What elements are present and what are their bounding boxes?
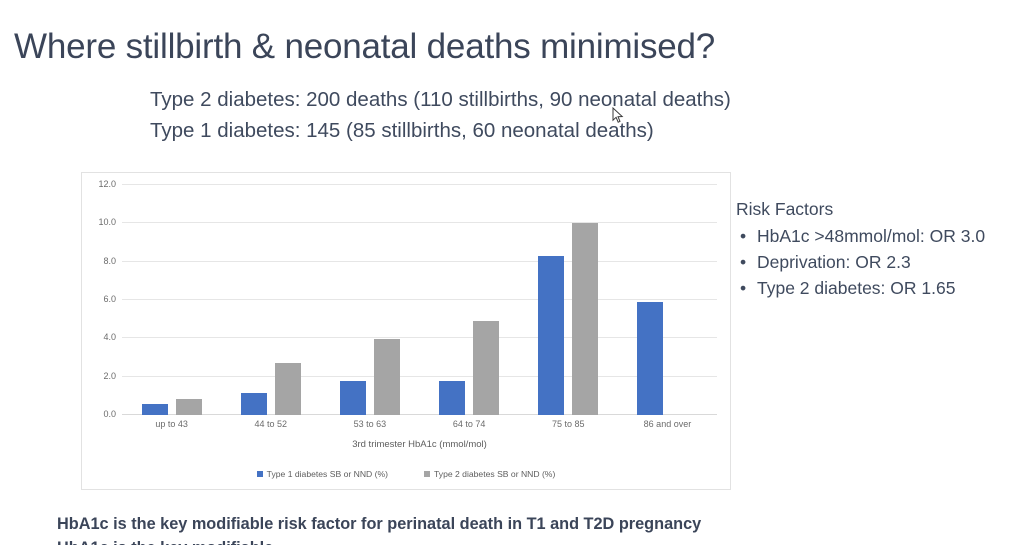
bar[interactable] [241,393,267,415]
risk-factor-item: •Deprivation: OR 2.3 [736,249,1022,275]
bar-group [221,185,320,415]
x-axis-tick-label: up to 43 [122,419,221,429]
legend-item[interactable]: Type 2 diabetes SB or NND (%) [424,469,555,479]
bar[interactable] [340,381,366,415]
bar[interactable] [637,302,663,415]
page-title: Where stillbirth & neonatal deaths minim… [14,27,715,67]
y-axis-tick-label: 0.0 [103,409,116,419]
bar-chart[interactable]: 0.02.04.06.08.010.012.0 up to 4344 to 52… [81,172,731,490]
y-axis-tick-label: 6.0 [103,294,116,304]
chart-legend[interactable]: Type 1 diabetes SB or NND (%)Type 2 diab… [82,469,730,479]
risk-factor-label: HbA1c >48mmol/mol: OR 3.0 [757,226,985,246]
bar[interactable] [374,339,400,415]
risk-factor-label: Type 2 diabetes: OR 1.65 [757,278,955,298]
chart-x-axis-labels: up to 4344 to 5253 to 6364 to 7475 to 85… [122,419,717,429]
x-axis-tick-label: 64 to 74 [420,419,519,429]
bar[interactable] [142,404,168,415]
bullet-icon: • [740,275,746,301]
legend-label: Type 2 diabetes SB or NND (%) [434,469,555,479]
bar-group [420,185,519,415]
legend-item[interactable]: Type 1 diabetes SB or NND (%) [257,469,388,479]
risk-factor-item: •HbA1c >48mmol/mol: OR 3.0 [736,223,1022,249]
bullet-icon: • [740,249,746,275]
risk-factor-label: Deprivation: OR 2.3 [757,252,911,272]
chart-bars-layer [122,185,717,415]
summary-line-type1: Type 1 diabetes: 145 (85 stillbirths, 60… [150,115,731,146]
legend-color-swatch [257,471,263,477]
legend-label: Type 1 diabetes SB or NND (%) [267,469,388,479]
bar[interactable] [538,256,564,415]
risk-factor-item: •Type 2 diabetes: OR 1.65 [736,275,1022,301]
bullet-icon: • [740,223,746,249]
legend-color-swatch [424,471,430,477]
bar-group [122,185,221,415]
bar-group [618,185,717,415]
risk-factors-panel: Risk Factors •HbA1c >48mmol/mol: OR 3.0•… [736,196,1022,301]
y-axis-tick-label: 12.0 [98,179,116,189]
summary-text-block: Type 2 diabetes: 200 deaths (110 stillbi… [150,84,731,146]
bar[interactable] [439,381,465,415]
chart-x-axis-title: 3rd trimester HbA1c (mmol/mol) [122,439,717,450]
x-axis-tick-label: 44 to 52 [221,419,320,429]
risk-factors-list: •HbA1c >48mmol/mol: OR 3.0•Deprivation: … [736,223,1022,301]
x-axis-tick-label: 86 and over [618,419,717,429]
slide-caption: HbA1c is the key modifiable risk factor … [57,515,701,534]
y-axis-tick-label: 10.0 [98,217,116,227]
slide-caption-next-partial: HbA1c is the key modifiable [57,539,273,545]
x-axis-tick-label: 53 to 63 [320,419,419,429]
y-axis-tick-label: 8.0 [103,256,116,266]
bar-group [320,185,419,415]
bar[interactable] [176,399,202,415]
y-axis-tick-label: 4.0 [103,332,116,342]
bar[interactable] [275,363,301,415]
bar[interactable] [572,223,598,415]
risk-factors-heading: Risk Factors [736,196,1022,222]
x-axis-tick-label: 75 to 85 [519,419,618,429]
summary-line-type2: Type 2 diabetes: 200 deaths (110 stillbi… [150,84,731,115]
bar[interactable] [473,321,499,415]
y-axis-tick-label: 2.0 [103,371,116,381]
bar-group [519,185,618,415]
chart-plot-area: 0.02.04.06.08.010.012.0 [122,185,717,415]
